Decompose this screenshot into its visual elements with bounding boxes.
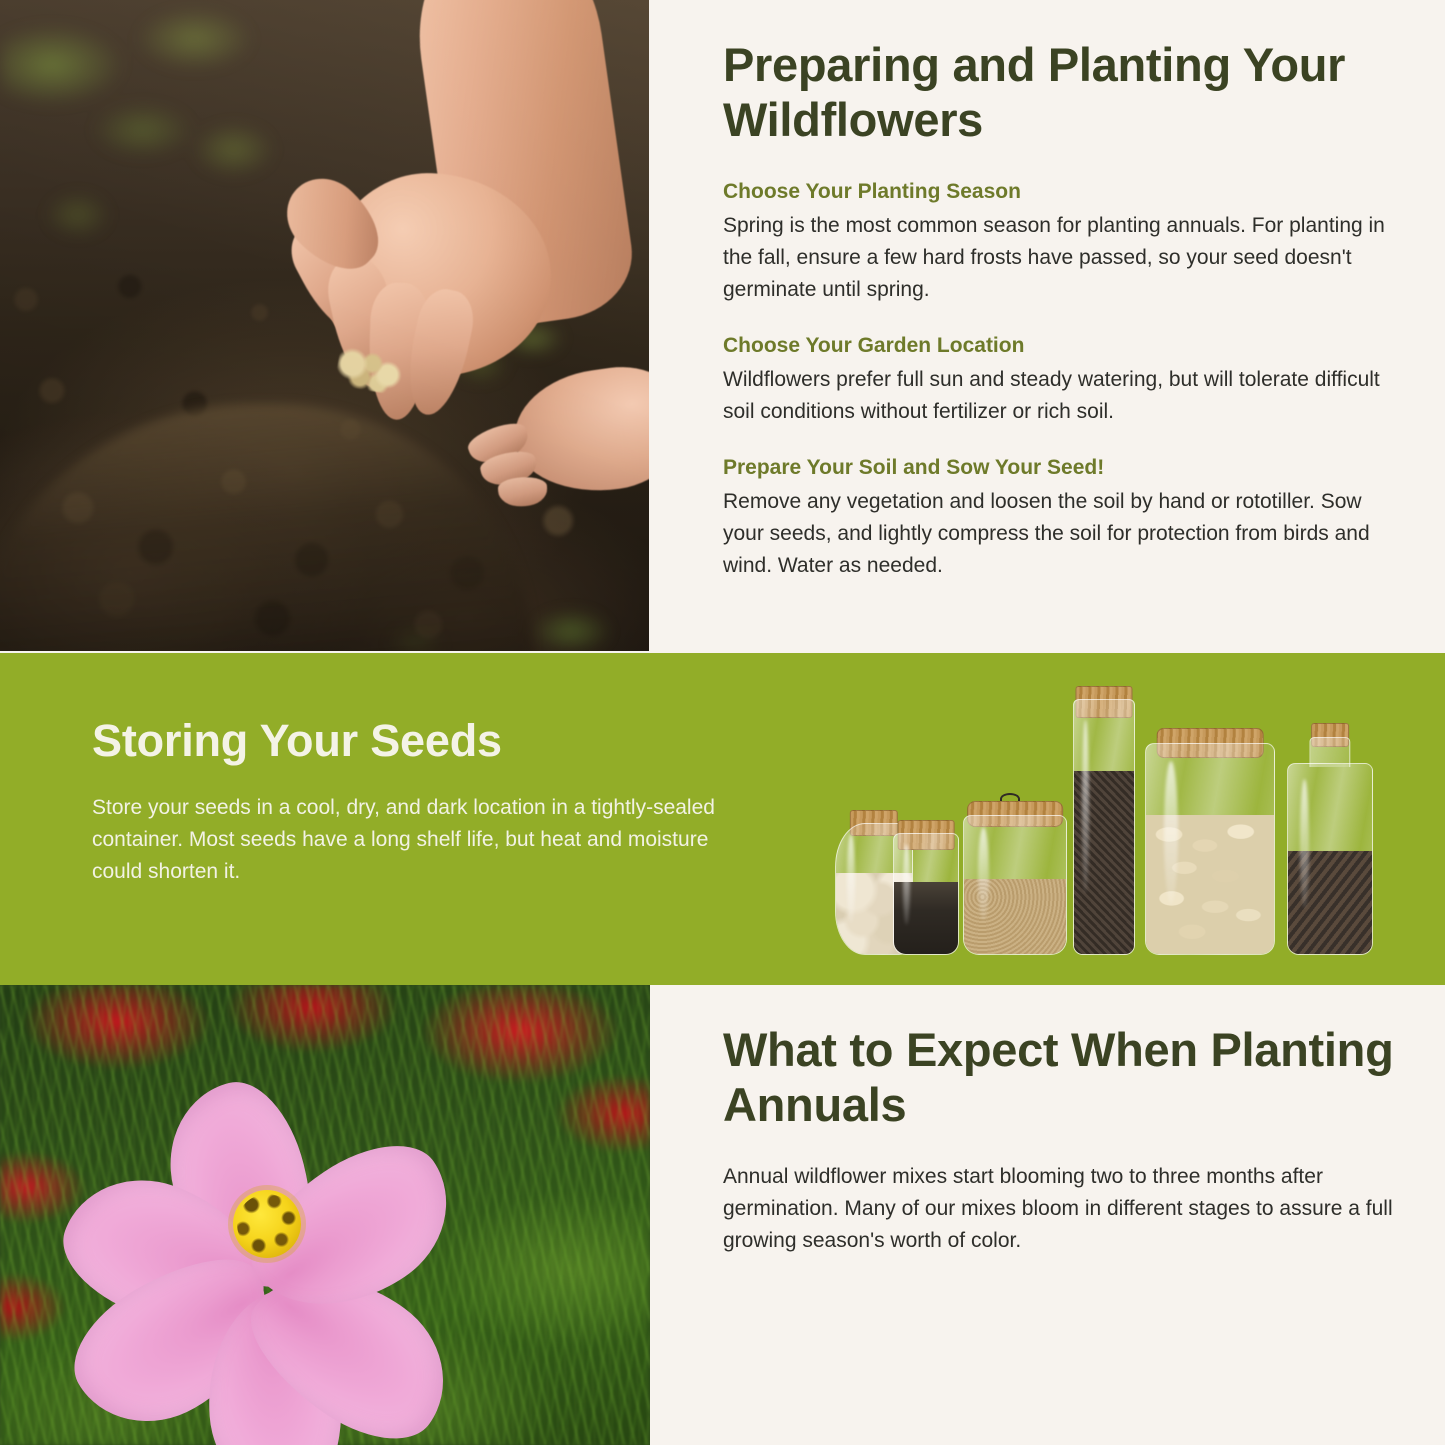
subheading-planting-season: Choose Your Planting Season [723, 178, 1395, 205]
prepare-soil-block: Prepare Your Soil and Sow Your Seed! Rem… [723, 454, 1395, 582]
seed-jar-black-seeds [893, 833, 959, 955]
planting-season-block: Choose Your Planting Season Spring is th… [723, 178, 1395, 306]
glass-body [963, 815, 1067, 955]
section3-body: Annual wildflower mixes start blooming t… [723, 1161, 1395, 1257]
body-planting-season: Spring is the most common season for pla… [723, 210, 1395, 306]
glass-highlight [903, 844, 910, 926]
section3-text: What to Expect When Planting Annuals Ann… [723, 1023, 1395, 1257]
storing-seeds-band: Storing Your Seeds Store your seeds in a… [0, 653, 1445, 985]
section2-text: Storing Your Seeds Store your seeds in a… [92, 716, 722, 888]
seed-jar-pumpkin-seeds [1145, 743, 1275, 955]
section3-heading: What to Expect When Planting Annuals [723, 1023, 1395, 1133]
cosmos-flower-photo [0, 985, 650, 1445]
glass-highlight [1300, 779, 1309, 908]
seed-jar-tall-cylinder [1073, 699, 1135, 955]
glass-highlight [1082, 720, 1089, 893]
soil-planting-photo [0, 0, 649, 651]
infographic-page: Preparing and Planting Your Wildflowers … [0, 0, 1445, 1445]
photo-light-overlay [0, 0, 649, 651]
glass-body [1073, 699, 1135, 955]
seed-jar-sunflower-seeds [1287, 763, 1373, 955]
glass-highlight [847, 834, 855, 922]
section1-text: Preparing and Planting Your Wildflowers … [723, 38, 1395, 582]
flower-center-disc [233, 1190, 301, 1258]
section1-heading: Preparing and Planting Your Wildflowers [723, 38, 1395, 148]
garden-location-block: Choose Your Garden Location Wildflowers … [723, 332, 1395, 428]
body-prepare-soil: Remove any vegetation and loosen the soi… [723, 486, 1395, 582]
glass-body [893, 833, 959, 955]
section2-heading: Storing Your Seeds [92, 716, 722, 766]
subheading-garden-location: Choose Your Garden Location [723, 332, 1395, 359]
subheading-prepare-soil: Prepare Your Soil and Sow Your Seed! [723, 454, 1395, 481]
glass-body [1287, 763, 1373, 955]
seed-jars-photo [835, 663, 1375, 973]
section2-body: Store your seeds in a cool, dry, and dar… [92, 792, 722, 888]
body-garden-location: Wildflowers prefer full sun and steady w… [723, 364, 1395, 428]
glass-body [1145, 743, 1275, 955]
glass-highlight [1164, 761, 1178, 904]
seed-jar-fine-brown-seeds [963, 815, 1067, 955]
